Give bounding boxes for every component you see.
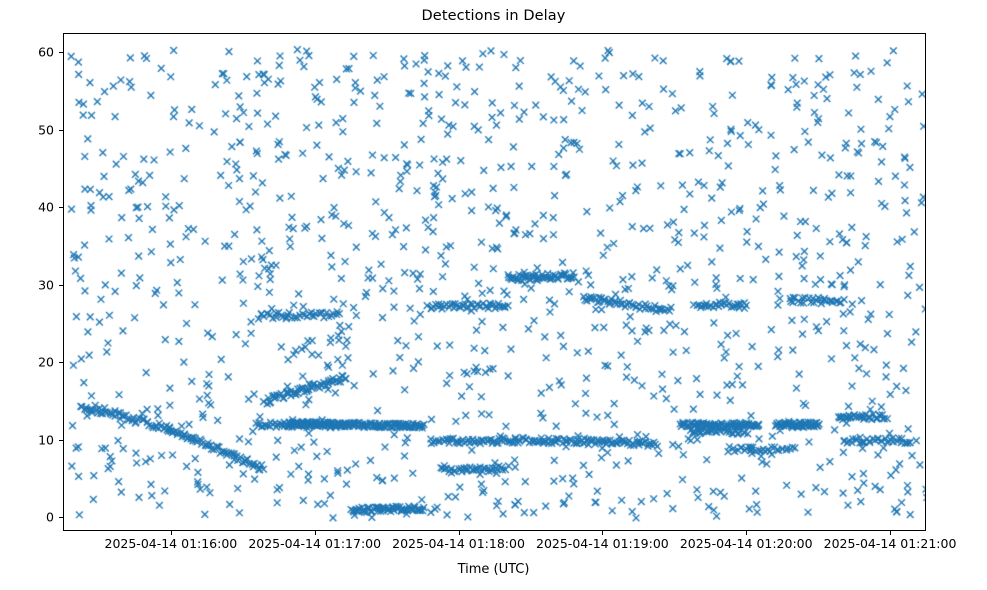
x-tick-label-4: 2025-04-14 01:20:00 [680,536,813,551]
x-tick-label-5: 2025-04-14 01:21:00 [824,536,957,551]
y-tick-label-40: 40 [12,200,54,215]
y-tick-mark [59,440,63,441]
y-tick-mark [59,130,63,131]
y-tick-label-10: 10 [12,432,54,447]
x-tick-mark [890,531,891,535]
y-tick-label-30: 30 [12,277,54,292]
matplotlib-figure: Detections in Delay 0102030405060 2025-0… [0,0,987,590]
x-tick-label-3: 2025-04-14 01:19:00 [536,536,669,551]
x-tick-mark [171,531,172,535]
scatter-plot-canvas [64,34,926,531]
y-tick-label-20: 20 [12,355,54,370]
x-tick-mark [746,531,747,535]
plot-axes [63,33,926,531]
y-tick-label-60: 60 [12,45,54,60]
x-tick-mark [315,531,316,535]
y-tick-mark [59,517,63,518]
y-tick-label-0: 0 [12,510,54,525]
x-axis-label: Time (UTC) [0,562,987,577]
y-tick-mark [59,207,63,208]
y-tick-mark [59,362,63,363]
x-tick-mark [459,531,460,535]
x-tick-label-0: 2025-04-14 01:16:00 [104,536,237,551]
y-tick-label-50: 50 [12,122,54,137]
chart-title: Detections in Delay [0,8,987,24]
y-tick-mark [59,52,63,53]
x-tick-label-1: 2025-04-14 01:17:00 [248,536,381,551]
x-tick-label-2: 2025-04-14 01:18:00 [392,536,525,551]
x-tick-mark [602,531,603,535]
y-tick-mark [59,285,63,286]
